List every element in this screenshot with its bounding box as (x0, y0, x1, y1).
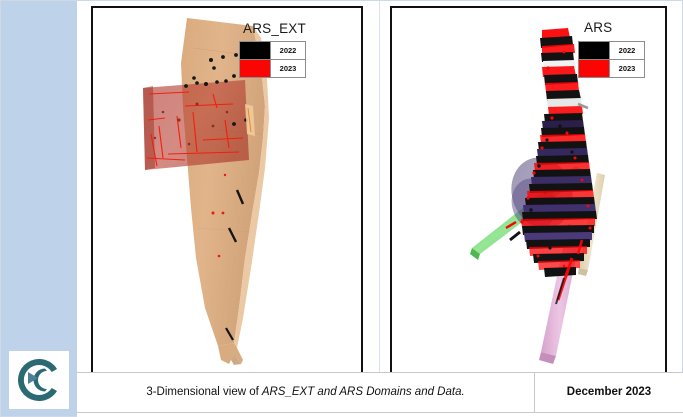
caption-prefix: 3-Dimensional view of (146, 386, 259, 398)
legend-row: 2023 (240, 59, 305, 77)
c-logo-icon (14, 356, 64, 404)
panel-ars: ARS 2022 2023 (390, 6, 667, 375)
legend-label-2022: 2022 (271, 42, 305, 59)
legend-ars-ext: 2022 2023 (239, 41, 306, 78)
legend-swatch-2023 (579, 60, 610, 77)
legend-label-2023: 2023 (271, 60, 305, 77)
panel-title-ars-ext: ARS_EXT (243, 21, 306, 36)
figure-caption: 3-Dimensional view of ARS_EXT and ARS Do… (77, 372, 534, 412)
caption-bar: 3-Dimensional view of ARS_EXT and ARS Do… (77, 372, 683, 417)
legend-swatch-2022 (579, 42, 610, 59)
panel-ars-ext: ARS_EXT 2022 2023 (91, 6, 363, 375)
caption-bottom-rule (77, 412, 683, 413)
legend-label-2023: 2023 (610, 60, 644, 77)
company-logo (9, 351, 69, 409)
legend-row: 2022 (579, 42, 644, 59)
ars-ext-3d-view (93, 8, 361, 373)
panel-title-ars: ARS (584, 20, 612, 35)
legend-ars: 2022 2023 (578, 41, 645, 78)
legend-row: 2022 (240, 42, 305, 59)
legend-label-2022: 2022 (610, 42, 644, 59)
panel-divider (379, 1, 380, 373)
caption-italic: ARS_EXT and ARS Domains and Data. (262, 386, 465, 398)
legend-row: 2023 (579, 59, 644, 77)
legend-swatch-2022 (240, 42, 271, 59)
legend-swatch-2023 (240, 60, 271, 77)
slide-page: ARS_EXT 2022 2023 (0, 0, 683, 417)
caption-date: December 2023 (535, 372, 683, 412)
